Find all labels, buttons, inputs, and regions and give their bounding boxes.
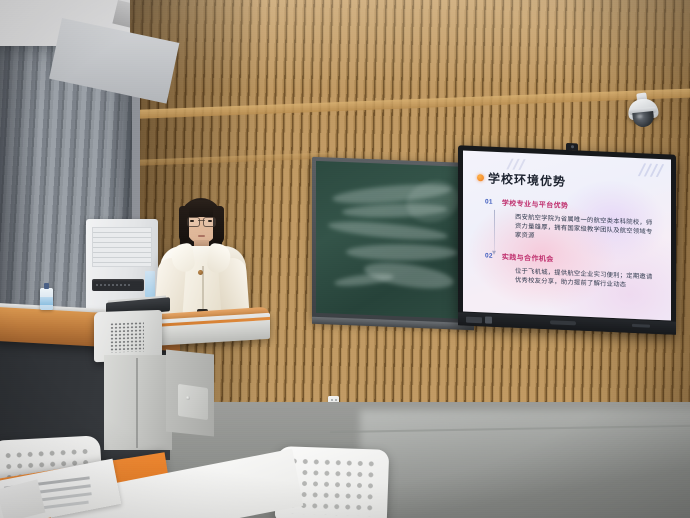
bottle-label bbox=[40, 297, 53, 305]
slide-section-1-body: 西安航空学院为省属唯一的航空类本科院校，师资力量雄厚，拥有国家级教学团队及航空领… bbox=[515, 213, 657, 247]
ac-display-panel bbox=[92, 279, 144, 291]
chalkboard-surface bbox=[316, 161, 470, 319]
eye-left bbox=[190, 220, 194, 222]
ac-vent-louvers bbox=[92, 227, 152, 267]
chalk-smudge bbox=[401, 175, 465, 228]
slide-title: 学校环境优势 bbox=[488, 170, 566, 190]
podium-seam bbox=[136, 358, 138, 448]
display-camera-icon bbox=[566, 143, 578, 151]
slide-section-1-head: 01 学校专业与平台优势 bbox=[485, 197, 657, 215]
chalkboard-frame bbox=[312, 157, 474, 327]
coat-button bbox=[198, 270, 203, 275]
speaker-grille-icon bbox=[110, 321, 144, 352]
blue-bottle bbox=[40, 288, 53, 310]
slide-section-2-body: 位于飞机城，提供航空企业实习便利；定期邀请优秀校友分享，助力提前了解行业动态 bbox=[515, 267, 657, 292]
display-brand-badge bbox=[466, 316, 482, 323]
slide-section-1: 01 学校专业与平台优势 西安航空学院为省属唯一的航空类本科院校，师资力量雄厚，… bbox=[485, 197, 657, 246]
slide-screen: 学校环境优势 01 学校专业与平台优势 西安航空学院为省属唯一的航空类本科院校，… bbox=[463, 150, 671, 320]
slide-title-row: 学校环境优势 bbox=[477, 169, 566, 190]
slide-section-1-heading: 学校专业与平台优势 bbox=[502, 198, 569, 211]
podium-access-panel[interactable] bbox=[178, 384, 208, 420]
chair-perforation-pattern bbox=[287, 455, 379, 516]
mouth bbox=[198, 235, 205, 237]
slide-decoration-top-left bbox=[509, 158, 535, 171]
display-power-button[interactable] bbox=[485, 316, 492, 323]
chalk-smudge bbox=[334, 271, 395, 288]
bullet-dot-icon bbox=[477, 174, 484, 181]
slide-section-2: 02 实践与合作机会 位于飞机城，提供航空企业实习便利；定期邀请优秀校友分享，助… bbox=[485, 251, 657, 291]
eye-right bbox=[208, 220, 212, 222]
slide-decoration-top-right bbox=[627, 163, 661, 178]
slide-section-2-number: 02 bbox=[485, 251, 493, 259]
podium-lock-knob[interactable] bbox=[186, 396, 190, 400]
podium-body bbox=[104, 355, 172, 450]
slide-section-1-number: 01 bbox=[485, 197, 493, 205]
chalk-smudge bbox=[346, 244, 458, 261]
presentation-display[interactable]: 学校环境优势 01 学校专业与平台优势 西安航空学院为省属唯一的航空类本科院校，… bbox=[458, 145, 676, 335]
slide-section-2-head: 02 实践与合作机会 bbox=[485, 251, 657, 269]
display-logo bbox=[632, 324, 650, 328]
classroom-photo: 学校环境优势 01 学校专业与平台优势 西安航空学院为省属唯一的航空类本科院校，… bbox=[0, 0, 690, 518]
display-ir-sensor-icon bbox=[550, 320, 576, 325]
slide-section-2-heading: 实践与合作机会 bbox=[502, 252, 554, 264]
